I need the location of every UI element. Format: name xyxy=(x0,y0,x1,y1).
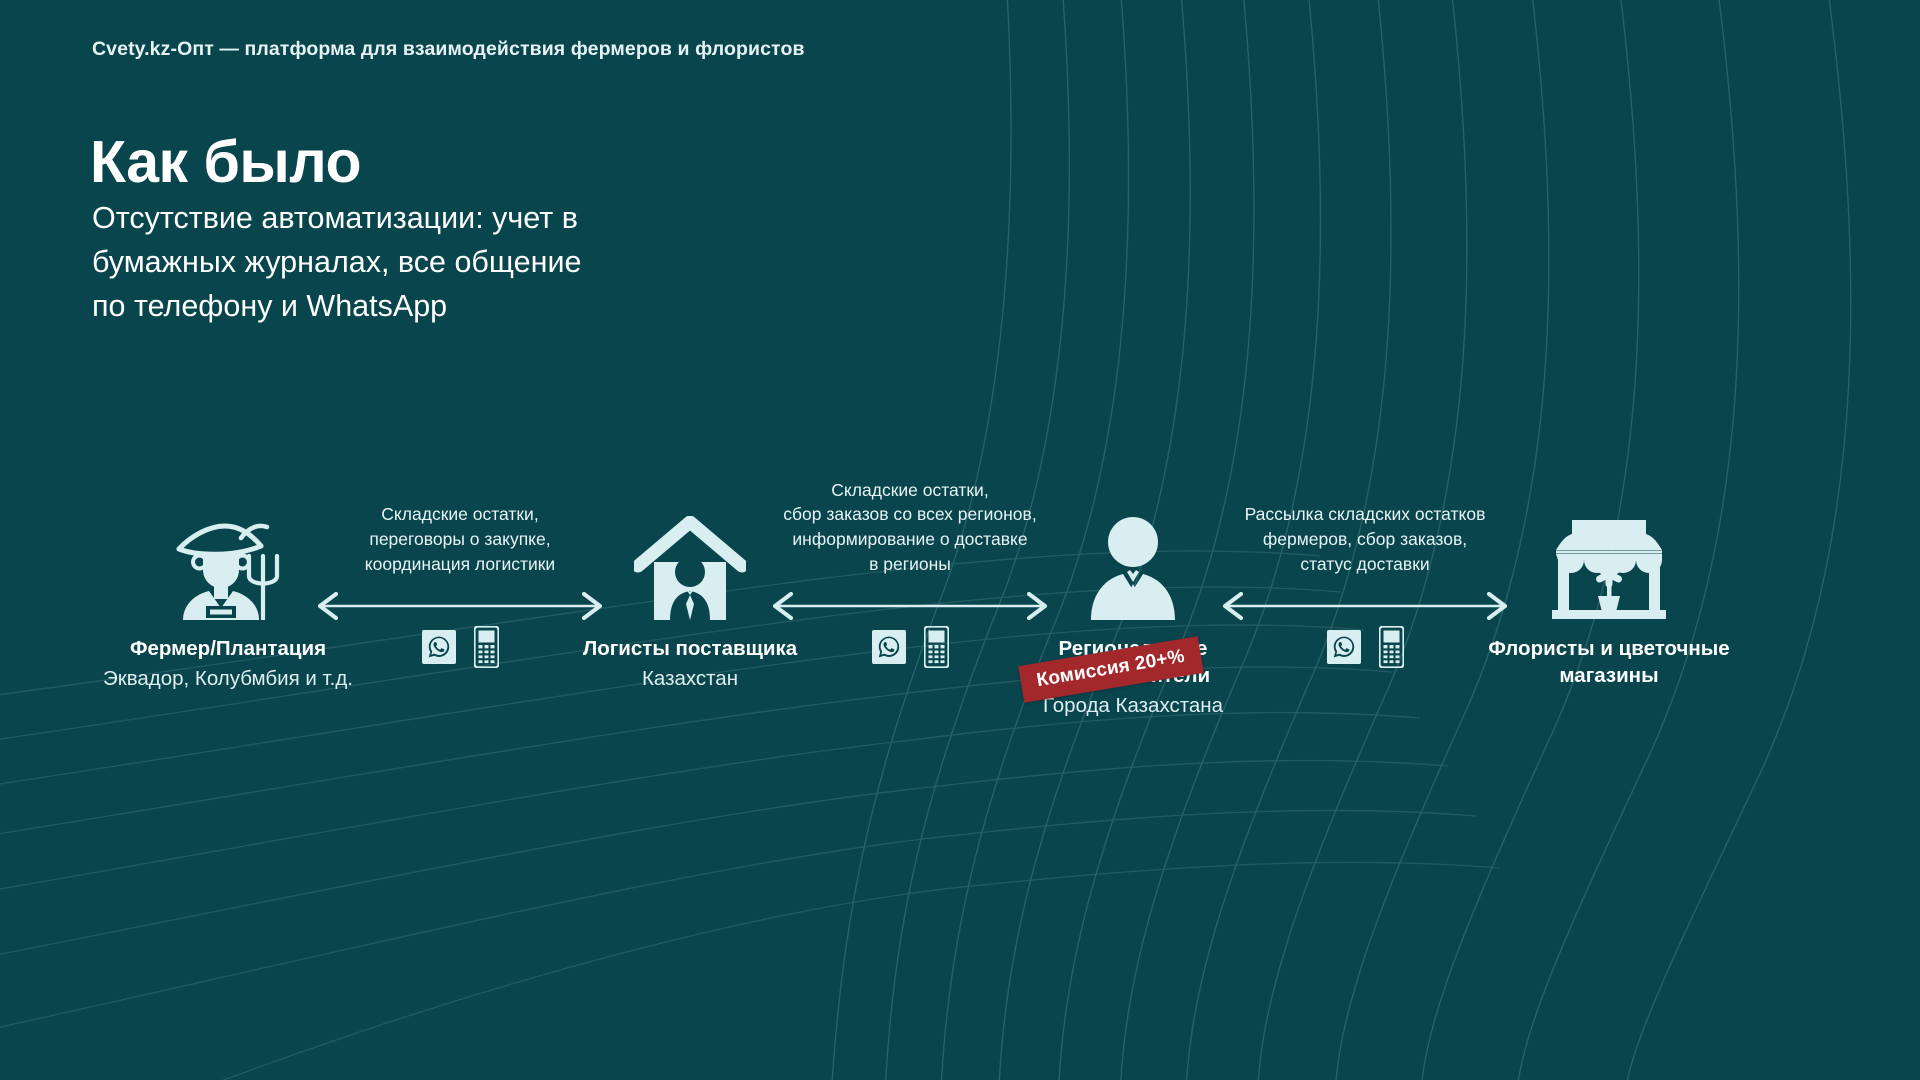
feature-phone-icon xyxy=(474,626,499,668)
feature-phone-icon xyxy=(924,626,949,668)
warehouse-house-icon xyxy=(540,500,840,620)
node-subtitle: Эквадор, Колубмбия и т.д. xyxy=(78,666,378,693)
node-subtitle: Казахстан xyxy=(540,666,840,693)
whatsapp-icon xyxy=(422,630,456,664)
slide-canvas: Cvety.kz-Опт — платформа для взаимодейст… xyxy=(0,0,1920,1080)
node-title: Флористы и цветочные магазины xyxy=(1459,635,1759,689)
businessman-icon xyxy=(983,500,1283,620)
eyebrow-text: Cvety.kz-Опт — платформа для взаимодейст… xyxy=(92,38,805,61)
whatsapp-icon xyxy=(1327,630,1361,664)
node-title: Логисты поставщика xyxy=(540,635,840,662)
farmer-icon xyxy=(78,500,378,620)
whatsapp-icon xyxy=(872,630,906,664)
flow-node-supplier-logistics: Логисты поставщика Казахстан xyxy=(540,500,840,693)
page-title: Как было xyxy=(90,132,361,194)
node-title: Фермер/Плантация xyxy=(78,635,378,662)
flow-node-farmer: Фермер/Плантация Эквадор, Колубмбия и т.… xyxy=(78,500,378,693)
flower-shop-icon xyxy=(1459,500,1759,620)
feature-phone-icon xyxy=(1379,626,1404,668)
process-flow-diagram: Складские остатки, переговоры о закупке,… xyxy=(0,500,1920,830)
page-subtitle: Отсутствие автоматизации: учет в бумажны… xyxy=(92,197,581,329)
flow-node-florists: Флористы и цветочные магазины xyxy=(1459,500,1759,693)
